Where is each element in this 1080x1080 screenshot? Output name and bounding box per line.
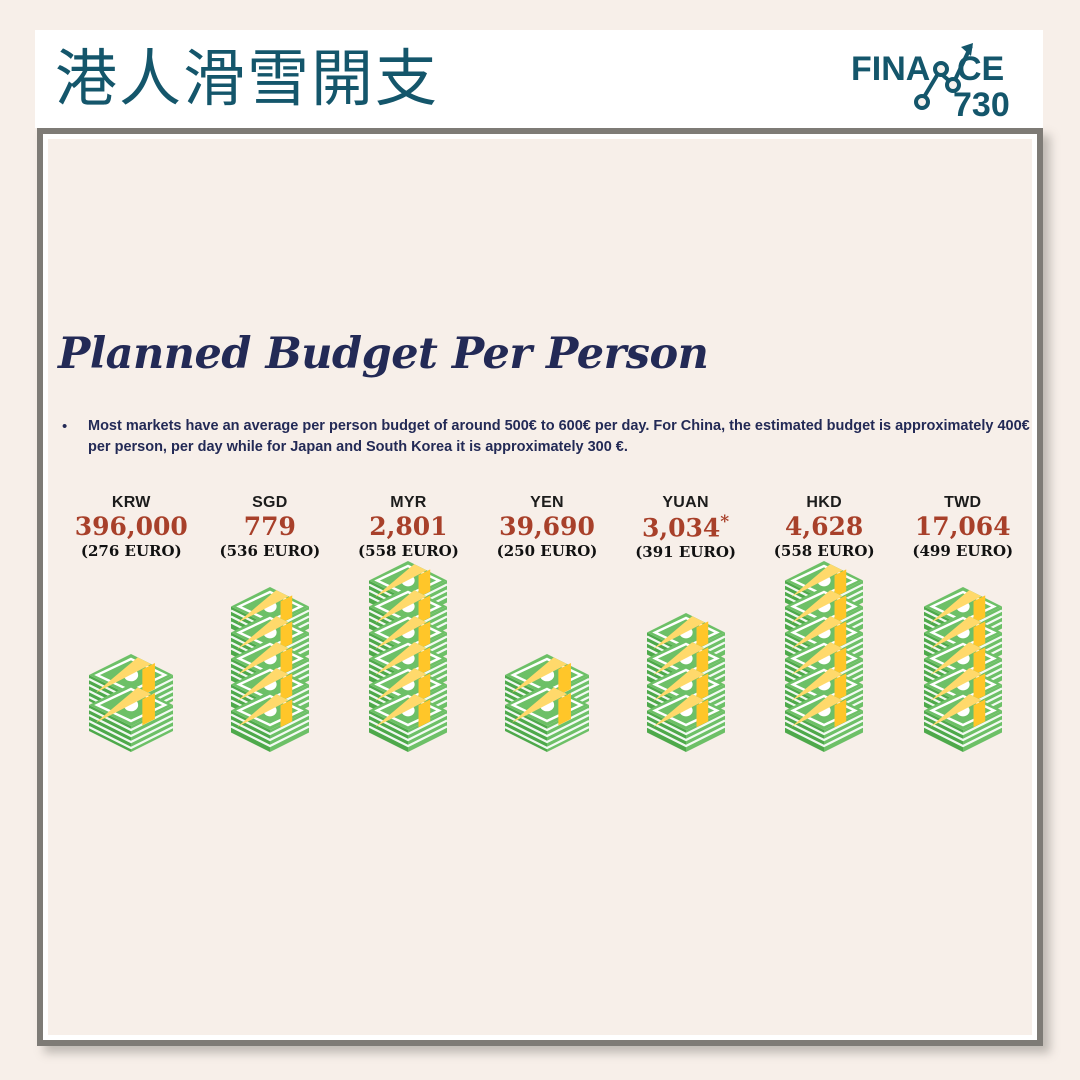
column-labels: MYR2,801(558 EURO) [358, 494, 459, 560]
chart-column-myr: MYR2,801(558 EURO) [339, 494, 478, 764]
currency-amount-value: 39,690 [499, 512, 595, 541]
currency-code: TWD [912, 494, 1013, 512]
bullet-marker: • [58, 416, 88, 437]
panel-inner: Planned Budget Per Person • Most markets… [43, 134, 1037, 1040]
budget-chart: KRW396,000(276 EURO)SGD779(536 EURO)MYR2… [62, 494, 1032, 764]
currency-euro-equivalent: (250 EURO) [497, 543, 598, 560]
currency-code: MYR [358, 494, 459, 512]
finance730-logo[interactable]: FINA CE 730 [849, 36, 1029, 122]
currency-amount-value: 2,801 [369, 512, 447, 541]
currency-code: HKD [774, 494, 875, 512]
chart-column-krw: KRW396,000(276 EURO) [62, 494, 201, 764]
column-labels: KRW396,000(276 EURO) [75, 494, 188, 560]
section-headline: Planned Budget Per Person [58, 329, 708, 379]
chart-column-twd: TWD17,064(499 EURO) [893, 494, 1032, 764]
page-title: 港人滑雪開支 [55, 48, 439, 110]
currency-euro-equivalent: (276 EURO) [75, 543, 188, 560]
money-stack-yuan [616, 609, 755, 762]
currency-amount: 2,801 [358, 513, 459, 541]
currency-euro-equivalent: (536 EURO) [219, 543, 320, 560]
column-labels: SGD779(536 EURO) [219, 494, 320, 560]
currency-amount-value: 779 [244, 512, 296, 541]
currency-amount: 17,064 [912, 513, 1013, 541]
currency-code: YEN [497, 494, 598, 512]
chart-column-sgd: SGD779(536 EURO) [201, 494, 340, 764]
currency-amount: 4,628 [774, 513, 875, 541]
currency-amount: 3,034* [635, 513, 736, 542]
currency-amount: 39,690 [497, 513, 598, 541]
column-labels: HKD4,628(558 EURO) [774, 494, 875, 560]
currency-euro-equivalent: (499 EURO) [912, 543, 1013, 560]
currency-amount-value: 396,000 [75, 512, 188, 541]
money-stack-twd [893, 583, 1032, 762]
currency-amount: 779 [219, 513, 320, 541]
money-stack-hkd [755, 557, 894, 762]
currency-code: YUAN [635, 494, 736, 512]
money-stack-yen [478, 650, 617, 762]
currency-amount: 396,000 [75, 513, 188, 541]
footnote-asterisk: * [720, 512, 729, 532]
money-stack-myr [339, 557, 478, 762]
column-labels: TWD17,064(499 EURO) [912, 494, 1013, 560]
money-stack-krw [62, 650, 201, 762]
currency-code: SGD [219, 494, 320, 512]
header-band: 港人滑雪開支 FINA CE 730 [35, 30, 1043, 128]
chart-column-yen: YEN39,690(250 EURO) [478, 494, 617, 764]
chart-column-hkd: HKD4,628(558 EURO) [755, 494, 894, 764]
bullet-body-text: Most markets have an average per person … [88, 416, 1033, 458]
column-labels: YEN39,690(250 EURO) [497, 494, 598, 560]
currency-amount-value: 17,064 [915, 512, 1011, 541]
currency-code: KRW [75, 494, 188, 512]
content-panel: Planned Budget Per Person • Most markets… [37, 128, 1043, 1046]
currency-amount-value: 3,034 [642, 513, 720, 542]
svg-text:FINA: FINA [851, 50, 930, 88]
currency-euro-equivalent: (391 EURO) [635, 544, 736, 561]
bullet-point: • Most markets have an average per perso… [58, 416, 1033, 458]
money-stack-sgd [201, 583, 340, 762]
column-labels: YUAN3,034*(391 EURO) [635, 494, 736, 561]
svg-text:730: 730 [953, 86, 1010, 122]
chart-column-yuan: YUAN3,034*(391 EURO) [616, 494, 755, 764]
svg-text:CE: CE [957, 50, 1004, 88]
currency-amount-value: 4,628 [785, 512, 863, 541]
